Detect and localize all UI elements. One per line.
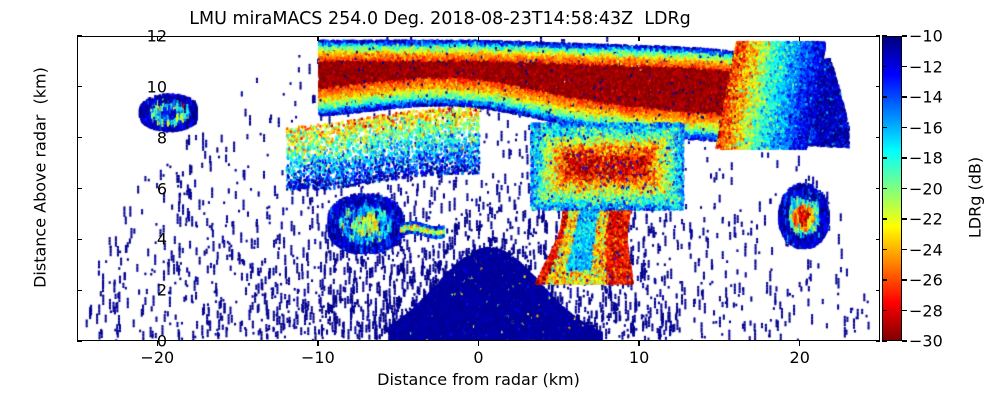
radar-rhi-figure: LMU miraMACS 254.0 Deg. 2018-08-23T14:58… (0, 0, 1000, 400)
colorbar-tick-mark (902, 96, 907, 97)
x-tick-label: 10 (629, 348, 649, 367)
colorbar-tick-mark (902, 157, 907, 158)
colorbar-tick-label: −20 (909, 179, 943, 198)
colorbar-tick-mark (902, 66, 907, 67)
y-tick-mark (77, 137, 82, 138)
colorbar-tick-mark (902, 340, 907, 341)
colorbar-tick-mark (902, 218, 907, 219)
x-tick-label: −10 (301, 348, 335, 367)
x-tick-mark (478, 341, 479, 346)
y-tick-mark (77, 188, 82, 189)
colorbar-tick-mark-left (882, 127, 887, 128)
colorbar-tick-mark-left (882, 340, 887, 341)
y-tick-mark-right (876, 290, 881, 291)
colorbar-tick-mark-left (882, 157, 887, 158)
colorbar-tick-mark (902, 127, 907, 128)
y-tick-label: 6 (157, 179, 167, 198)
x-tick-mark (638, 341, 639, 346)
x-tick-mark-top (317, 36, 318, 41)
colorbar-tick-label: −12 (909, 57, 943, 76)
x-tick-mark-top (799, 36, 800, 41)
page-title: LMU miraMACS 254.0 Deg. 2018-08-23T14:58… (0, 9, 880, 29)
colorbar-tick-label: −24 (909, 240, 943, 259)
x-tick-mark-top (478, 36, 479, 41)
y-tick-mark-right (876, 137, 881, 138)
colorbar-tick-mark (902, 188, 907, 189)
x-tick-mark (799, 341, 800, 346)
y-tick-mark (77, 35, 82, 36)
x-tick-label: 0 (473, 348, 483, 367)
y-axis-label: Distance Above radar (km) (31, 48, 50, 308)
x-axis-label: Distance from radar (km) (77, 370, 880, 389)
colorbar-tick-label: −22 (909, 210, 943, 229)
colorbar-tick-mark-left (882, 249, 887, 250)
colorbar-tick-label: −16 (909, 118, 943, 137)
colorbar-label: LDRg (dB) (966, 98, 985, 298)
y-tick-mark (77, 239, 82, 240)
x-tick-label: 20 (790, 348, 810, 367)
colorbar-tick-mark (902, 310, 907, 311)
y-tick-mark-right (876, 35, 881, 36)
x-tick-mark-top (157, 36, 158, 41)
y-tick-mark-right (876, 86, 881, 87)
colorbar-tick-mark-left (882, 279, 887, 280)
colorbar-tick-mark-left (882, 96, 887, 97)
y-tick-label: 8 (157, 128, 167, 147)
y-tick-mark-right (876, 239, 881, 240)
radar-data-field (78, 37, 880, 341)
colorbar-tick-label: −18 (909, 149, 943, 168)
y-tick-mark (77, 340, 82, 341)
colorbar-tick-label: −14 (909, 88, 943, 107)
y-tick-label: 2 (157, 281, 167, 300)
colorbar-tick-label: −28 (909, 301, 943, 320)
y-tick-mark-right (876, 188, 881, 189)
x-tick-mark-top (638, 36, 639, 41)
plot-axes (77, 36, 880, 341)
colorbar-tick-mark (902, 35, 907, 36)
y-tick-mark-right (876, 340, 881, 341)
y-tick-label: 10 (147, 77, 167, 96)
colorbar-tick-mark-left (882, 310, 887, 311)
y-tick-mark (77, 86, 82, 87)
x-tick-label: −20 (140, 348, 174, 367)
colorbar-tick-label: −10 (909, 27, 943, 46)
colorbar-tick-mark-left (882, 218, 887, 219)
y-tick-label: 4 (157, 230, 167, 249)
y-tick-mark (77, 290, 82, 291)
colorbar-tick-mark (902, 249, 907, 250)
colorbar-tick-mark-left (882, 188, 887, 189)
x-tick-mark (317, 341, 318, 346)
x-tick-mark (157, 341, 158, 346)
colorbar-tick-label: −30 (909, 332, 943, 351)
colorbar-tick-mark (902, 279, 907, 280)
colorbar-tick-label: −26 (909, 271, 943, 290)
colorbar-tick-mark-left (882, 35, 887, 36)
colorbar-tick-mark-left (882, 66, 887, 67)
